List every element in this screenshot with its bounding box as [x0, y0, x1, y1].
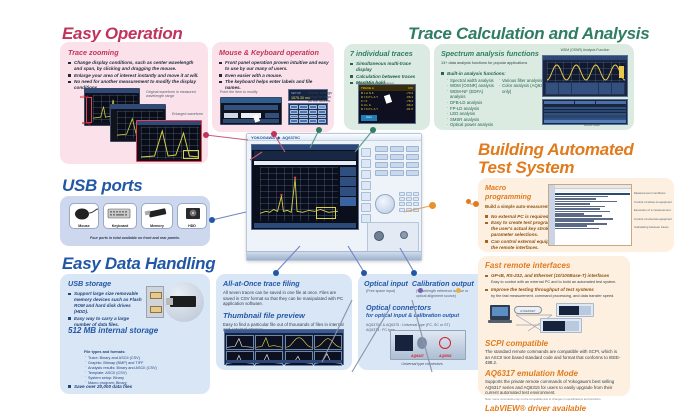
list-item: Optical power analysis [446, 122, 498, 128]
sub-remote-1: Easy to control with an external PC and … [491, 280, 624, 286]
section-title-automated-line2: Test System [478, 158, 574, 177]
list-item: Even easier with a mouse. [219, 73, 329, 79]
body-emulation: Supports the private remote commands of … [485, 379, 623, 396]
list-mouse-keyboard: Front panel operation proven intuitive a… [219, 60, 329, 91]
body-scpi: The standard remote commands are compati… [485, 349, 623, 366]
panel-macro-programming: Macro programming Build a simple auto-me… [478, 178, 674, 252]
list-file-types: Trace: Binary and ASCII (CSV) Graphic: B… [84, 356, 157, 386]
usb-device-memory: Memory [141, 203, 173, 229]
photo-universal-connectors: AQ6447 AQ6501 [390, 330, 466, 360]
screenshot-trace-list: TRACE AFIX B L A N K-70.3 D I S P L A Y-… [358, 84, 416, 124]
screenshot-settings-panel [220, 97, 282, 125]
heading-file-types: File types and formats: [84, 350, 126, 355]
usb-device-hdd: HDD [177, 203, 207, 229]
heading-trace-zooming: Trace zooming [68, 48, 208, 57]
panel-trace-filing: All-at-Once trace filing All seven trace… [216, 274, 352, 370]
callout-dot-optical-input [361, 270, 367, 276]
heading-optical-input: Optical input [364, 279, 408, 288]
heading-calibration-output: Calibration output [412, 279, 474, 288]
thumbnail-item[interactable] [285, 351, 313, 366]
heading-scpi: SCPI compatible [485, 339, 630, 348]
thumbnail-item[interactable] [285, 335, 313, 350]
screenshot-onscreen-keypad [288, 103, 328, 125]
section-title-automated-line1: Building Automated [478, 140, 633, 159]
label-point-item: Point the item to modify [220, 90, 258, 95]
diagram-network: ETHERNET [484, 301, 624, 337]
code-label: Measurement conditions [634, 192, 674, 196]
screenshot-wdm-analysis [542, 55, 628, 97]
note-optical-input: (Free space input) [366, 289, 412, 298]
photo-usb-flash-drive [164, 282, 204, 322]
callout-dot-macro [473, 201, 479, 207]
list-remote-interfaces-2: Improve the testing throughput of test s… [485, 287, 624, 293]
heading-emulation: AQ6317 emulation Mode [485, 369, 630, 378]
thumbnail-item[interactable] [255, 351, 283, 366]
heading-remote-interfaces: Fast remote interfaces [485, 261, 630, 270]
mark-aq6501: AQ6501 [439, 354, 452, 358]
body-all-at-once: All seven traces can be saved in one fil… [223, 290, 345, 307]
screenshot-enlarged-waveform [136, 120, 202, 162]
section-title-easy-data-handling: Easy Data Handling [62, 254, 215, 273]
list-item: Front panel operation proven intuitive a… [219, 60, 329, 72]
thumbnail-item[interactable] [314, 335, 342, 350]
panel-spectrum-analysis: Spectrum analysis functions 13+ data ana… [434, 44, 634, 130]
heading-individual-traces: 7 individual traces [350, 49, 430, 58]
hdd-icon [178, 204, 208, 222]
memory-icon [142, 204, 174, 222]
usb-icon-row: Mouse Keyboard [60, 196, 210, 229]
usb-device-mouse: Mouse [69, 203, 99, 229]
screenshot-thumbnail-preview [224, 329, 344, 365]
thumbnail-item[interactable] [226, 335, 254, 350]
instrument-optical-port-area [367, 222, 419, 254]
panel-trace-zooming: Trace zooming Change display conditions,… [60, 42, 208, 164]
heading-all-at-once: All-at-Once trace filing [223, 279, 352, 288]
list-item: GP-IB, RS-232, and Ethernet (10/100Base-… [485, 273, 624, 279]
callout-dot-traces [370, 127, 376, 133]
thumbnail-item[interactable] [314, 351, 342, 366]
list-item: Improve the testing throughput of test s… [485, 287, 624, 293]
callout-dot-usb-ports [209, 217, 215, 223]
caption-result-table: Result table [584, 123, 600, 128]
list-item: Macro program: Binary [84, 381, 157, 386]
usb-device-label: Memory [142, 224, 172, 228]
panel-individual-traces: 7 individual traces Simultaneous multi-t… [344, 44, 430, 130]
calibration-output-port[interactable] [400, 231, 408, 239]
brochure-page: Easy Operation Trace zooming Change disp… [0, 0, 680, 417]
callout-dot-remote [429, 202, 436, 209]
photo-usb-ports-closeup [146, 286, 164, 318]
label-enlarged-waveform: Enlarged waveform [172, 112, 206, 116]
heading-internal-storage: 512 MB internal storage [68, 326, 158, 335]
label-modify-settings: Modify settings using the keys on the sc… [308, 92, 332, 103]
instrument-keypad-top[interactable] [375, 146, 419, 190]
usb-device-label: Keyboard [104, 224, 136, 228]
mark-aq6447: AQ6447 [411, 354, 424, 358]
note-calibration-output: (Wavelength reference source or optical … [416, 289, 478, 298]
label-drag: drag [82, 120, 91, 125]
heading-thumbnail-preview: Thumbnail file preview [223, 311, 352, 320]
code-label: Execution of a measurement [634, 209, 674, 213]
caption-usb-ports: Four ports in total available on front a… [60, 236, 210, 241]
thumbnail-item[interactable] [255, 335, 283, 350]
heading-optical-connectors: Optical connectors [366, 303, 486, 312]
instrument-rotary-knob[interactable] [375, 194, 395, 214]
usb-device-keyboard: Keyboard [103, 203, 137, 229]
sub-remote-2: by the fast measurement, command process… [491, 294, 624, 300]
diagram-instrument-2 [540, 318, 582, 333]
section-title-trace-calculation: Trace Calculation and Analysis [408, 24, 649, 43]
instrument-display [251, 144, 359, 230]
caption-universal-connectors: Universal type connectors [358, 362, 486, 367]
subheading-optical-connectors: for optical input & calibration output [366, 312, 486, 321]
list-remote-interfaces: GP-IB, RS-232, and Ethernet (10/100Base-… [485, 273, 624, 279]
note-emulation: Note: some commands may not be compatibl… [485, 397, 623, 402]
panel-usb-ports: Mouse Keyboard [60, 196, 210, 246]
keyboard-icon [104, 204, 138, 222]
instrument-base [247, 251, 421, 260]
diagram-pc [490, 305, 510, 320]
list-item: Change display conditions, such as cente… [68, 60, 202, 72]
panel-mouse-keyboard: Mouse & Keyboard operation Front panel o… [212, 42, 334, 132]
code-label: Calculating between traces [634, 226, 674, 230]
thumbnail-item[interactable] [226, 351, 254, 366]
list-item: Calculation between traces [350, 74, 426, 80]
callout-dot-trace-zooming [203, 132, 209, 138]
list-trace-zooming: Change display conditions, such as cente… [68, 60, 202, 91]
callout-dot-macro-2 [466, 199, 471, 204]
list-individual-traces: Simultaneous multi-trace display Calcula… [350, 61, 426, 86]
code-label: Control of external equipment [634, 218, 674, 222]
heading-labview: LabVIEW® driver available [485, 404, 630, 413]
callout-dot-optical-port [418, 288, 423, 293]
panel-usb-storage: USB storage Support large size removable… [60, 274, 210, 394]
optical-input-port[interactable] [374, 231, 384, 241]
usb-device-label: Mouse [70, 224, 98, 228]
callout-dot-calibration-output [411, 270, 417, 276]
screenshot-result-table [542, 99, 628, 125]
callout-dot-mouse-keyboard [271, 131, 277, 137]
screenshot-macro-program [548, 184, 632, 246]
usb-device-label: HDD [178, 224, 206, 228]
code-label: Control of active-A equipment [634, 201, 674, 205]
list-item: Support large size removable memory devi… [68, 291, 144, 315]
product-photo-instrument: YOKOGAWA ◆ AQ6370C [246, 133, 422, 261]
callout-dot-spectrum [316, 127, 322, 133]
instrument-numeric-keypad[interactable] [399, 192, 419, 216]
instrument-softkeys[interactable] [361, 148, 371, 223]
mouse-icon [70, 204, 100, 222]
list-item: WDM-NF (EDFA) analysis [446, 89, 498, 100]
section-title-usb-ports: USB ports [62, 176, 142, 195]
heading-mouse-keyboard: Mouse & Keyboard operation [219, 48, 334, 57]
callout-dot-trace-filing [273, 270, 279, 276]
panel-remote-interfaces: Fast remote interfaces GP-IB, RS-232, an… [478, 256, 630, 396]
analysis-functions-col1: Spectral width analysis WDM (OSNR) analy… [446, 78, 498, 128]
callout-dot-cal-port [456, 288, 461, 293]
section-title-easy-operation: Easy Operation [62, 24, 183, 43]
label-click: click [80, 94, 89, 99]
caption-wdm-analysis: WDM (OSNR) Analysis Function [542, 48, 628, 53]
label-original-waveform: Original waveform in measured wavelength… [146, 90, 202, 98]
list-item: Enlarge your area of interest instantly … [68, 73, 202, 79]
macro-code-annotations: Measurement conditions Control of active… [634, 192, 674, 230]
diagram-instrument-1 [556, 303, 594, 317]
list-usb-storage: Support large size removable memory devi… [68, 291, 144, 328]
list-item: Simultaneous multi-trace display [350, 61, 426, 73]
